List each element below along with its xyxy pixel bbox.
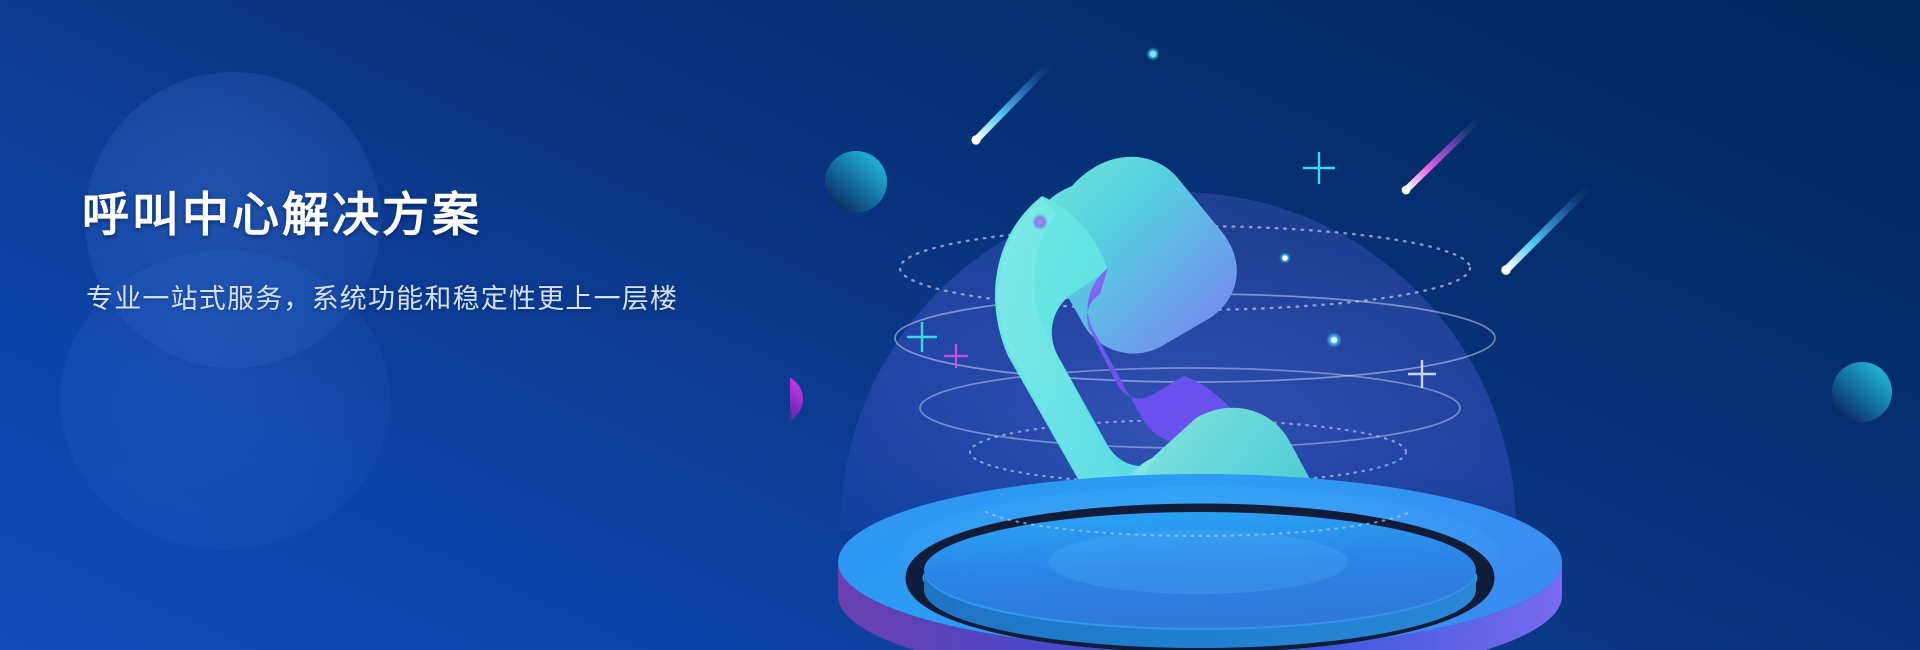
dot-white-mid-core <box>1282 255 1287 260</box>
comet-cyan-upper <box>976 62 1052 140</box>
comet-cyan-lower <box>1506 186 1590 270</box>
comet-magenta-head <box>1402 186 1411 195</box>
dot-cyan-top-core <box>1150 51 1156 57</box>
cross-cyan-right-upper <box>1303 152 1335 184</box>
teal-sphere-right <box>1832 362 1892 422</box>
purple-sphere-bottom-left <box>790 375 803 423</box>
comet-cyan-upper-head <box>971 135 980 144</box>
comet-magenta <box>1406 118 1480 190</box>
page-subtitle: 专业一站式服务，系统功能和稳定性更上一层楼 <box>86 281 902 319</box>
podium-recess-sheen <box>1048 530 1348 594</box>
hero-text-block: 呼叫中心解决方案 专业一站式服务，系统功能和稳定性更上一层楼 <box>82 186 902 319</box>
dot-cyan-handset-core <box>1331 337 1337 343</box>
dot-violet-core <box>1037 219 1043 225</box>
circular-podium <box>838 474 1562 650</box>
call-center-illustration <box>790 0 1920 650</box>
page-title: 呼叫中心解决方案 <box>82 186 902 245</box>
hero-banner: 呼叫中心解决方案 专业一站式服务，系统功能和稳定性更上一层楼 <box>0 0 1920 650</box>
comet-cyan-lower-head <box>1501 265 1511 275</box>
teal-sphere-top-left <box>825 151 887 213</box>
